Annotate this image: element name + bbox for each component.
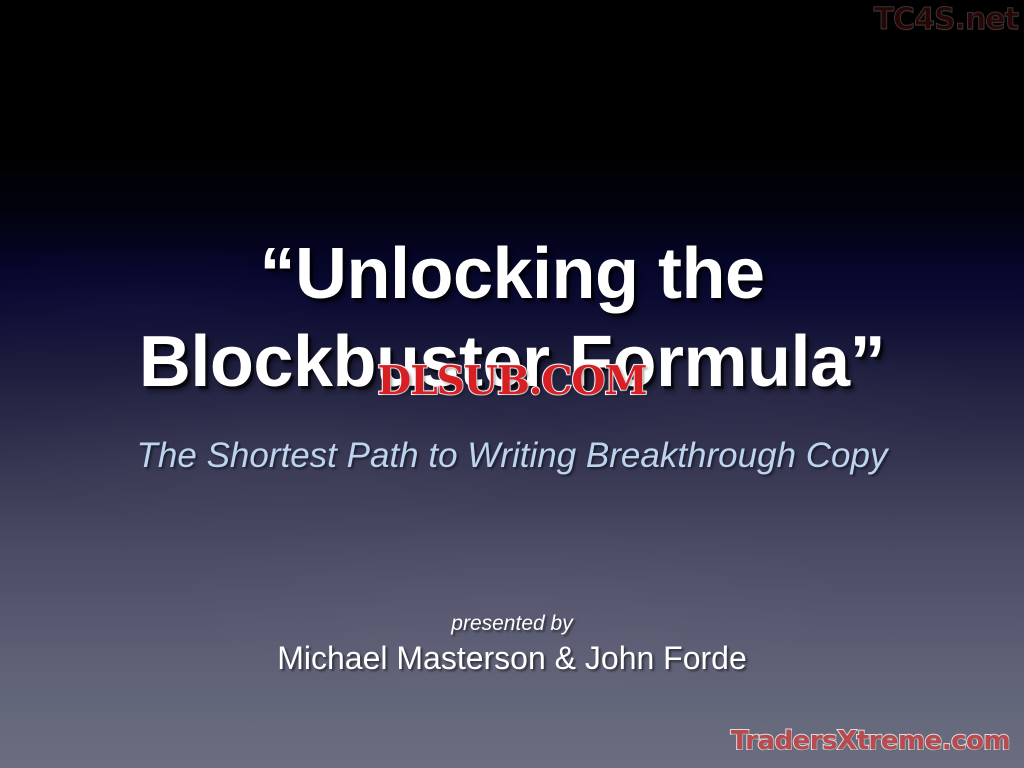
slide-subtitle: The Shortest Path to Writing Breakthroug… (0, 437, 1024, 476)
presenter-names: Michael Masterson & John Forde (0, 640, 1024, 677)
presenter-credit: presented by Michael Masterson & John Fo… (0, 612, 1024, 677)
watermark-bottom-right: TradersXtreme.com (731, 726, 1010, 756)
watermark-top-right: TC4S.net (874, 2, 1018, 37)
slide-title-line-1: “Unlocking the (0, 238, 1024, 310)
watermark-center: DLSUB.COM (377, 358, 646, 404)
presentation-slide: TC4S.net “Unlocking the Blockbuster Form… (0, 0, 1024, 768)
presented-by-label: presented by (0, 612, 1024, 636)
